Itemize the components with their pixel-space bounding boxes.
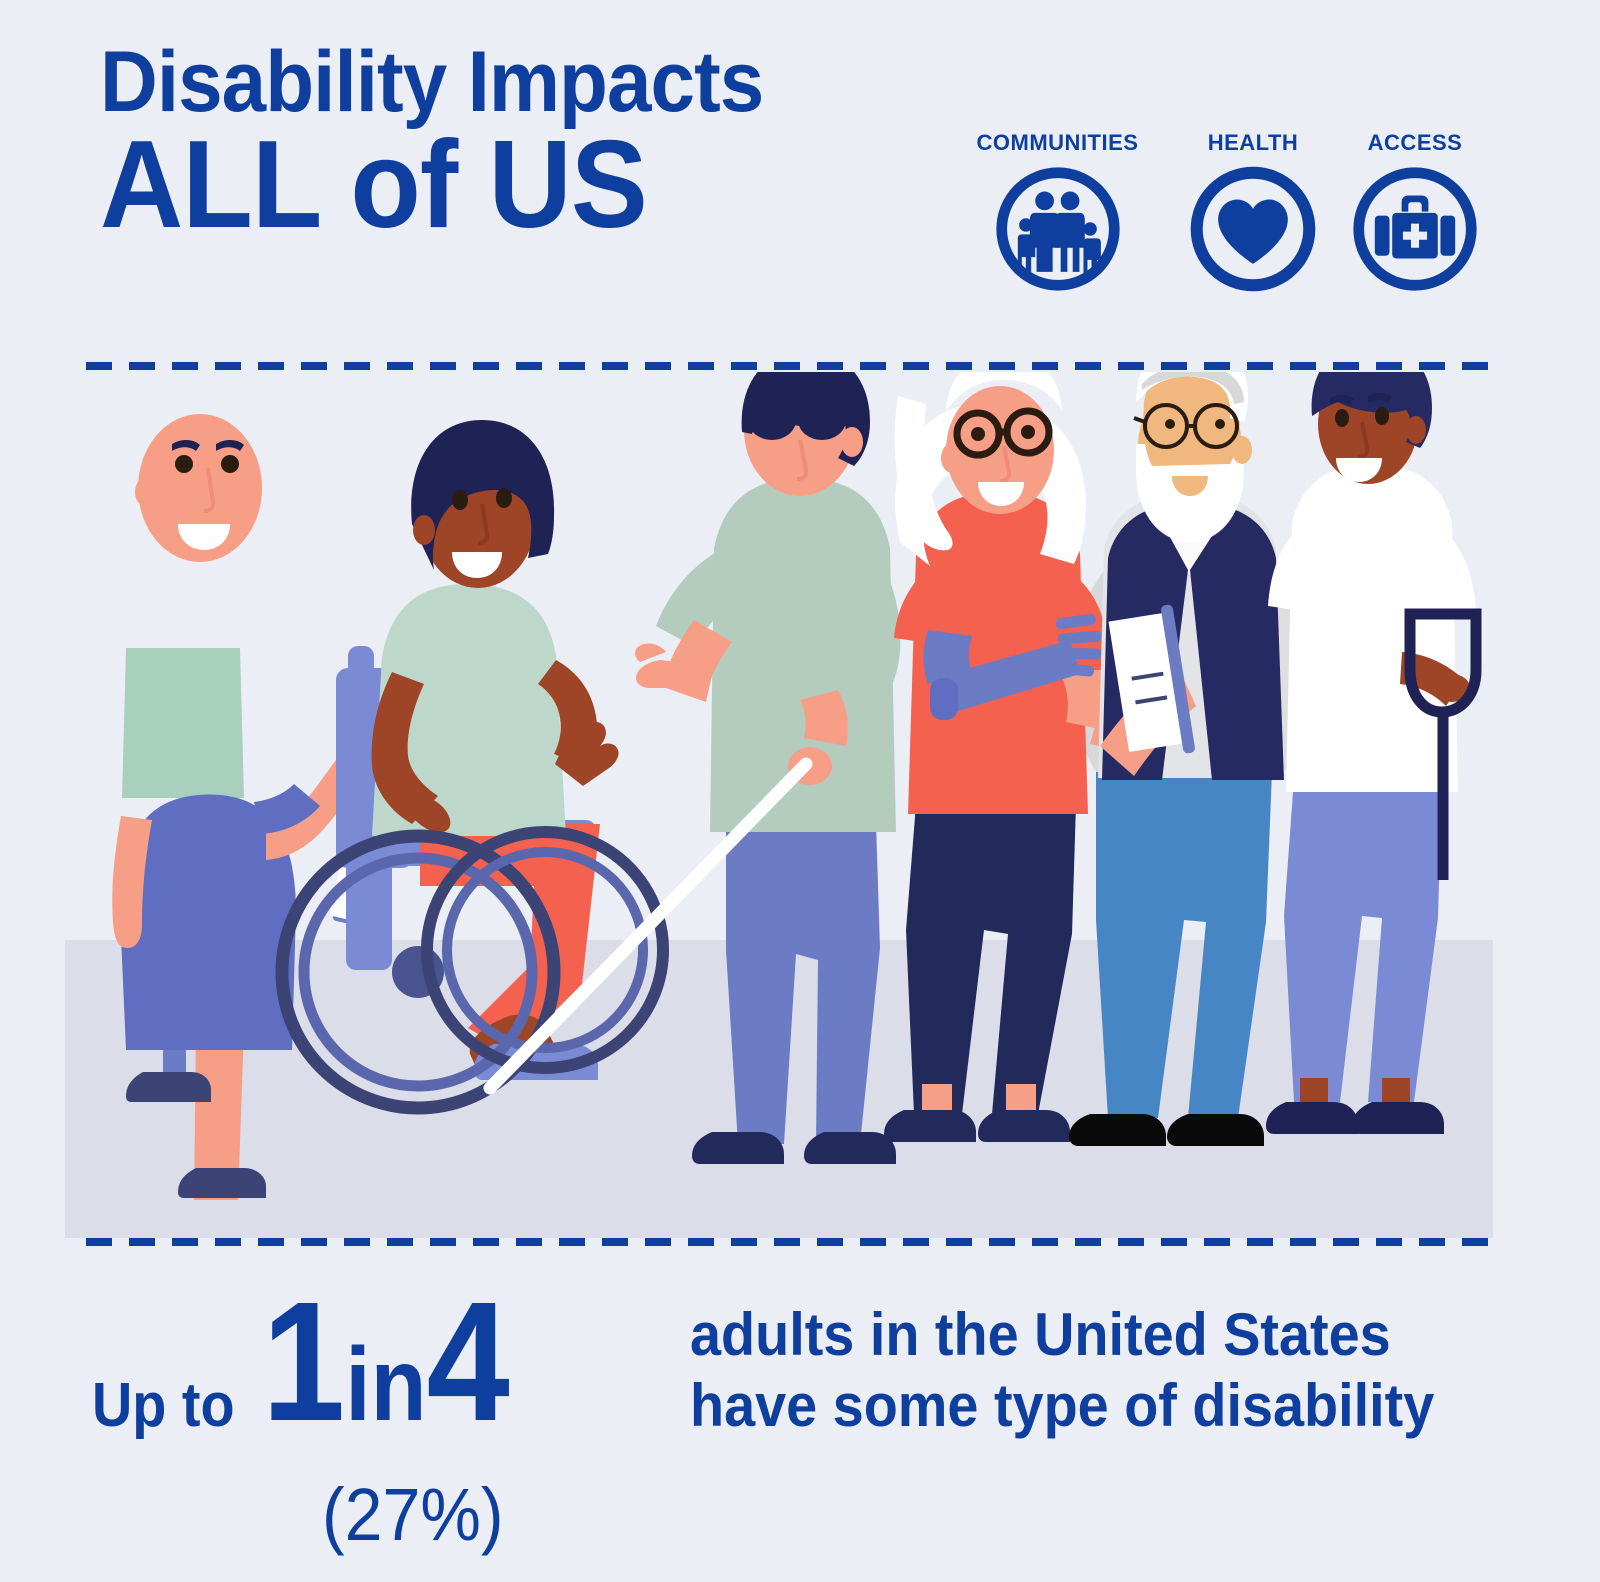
- divider-bottom: [86, 1238, 1496, 1246]
- medical-bag-icon: [1348, 162, 1482, 296]
- stat-description: adults in the United States have some ty…: [690, 1300, 1453, 1442]
- family-group-icon: [991, 162, 1125, 296]
- page-title: Disability Impacts ALL of US: [100, 42, 960, 243]
- illustration-scene: [0, 372, 1600, 1232]
- stat-description-line-2: have some type of disability: [690, 1371, 1453, 1442]
- pillar-icon-group: COMMUNITIES: [950, 130, 1490, 310]
- divider-top: [86, 362, 1496, 370]
- stat-percent: (27%): [322, 1472, 504, 1557]
- pillar-access: ACCESS: [1340, 130, 1490, 296]
- people-illustration: [0, 372, 1600, 1232]
- stat-description-line-1: adults in the United States: [690, 1300, 1453, 1371]
- title-line-secondary: ALL of US: [100, 127, 900, 244]
- title-line-primary: Disability Impacts: [100, 42, 900, 123]
- heart-icon: [1186, 162, 1320, 296]
- infographic-root: Disability Impacts ALL of US COMMUNITIES: [0, 0, 1600, 1582]
- pillar-health: HEALTH: [1178, 130, 1328, 296]
- pillar-health-label: HEALTH: [1178, 130, 1328, 156]
- stat-prefix: Up to: [92, 1370, 235, 1441]
- figure-woman-in-wheelchair: [282, 420, 663, 1108]
- pillar-communities: COMMUNITIES: [950, 130, 1165, 296]
- stat-headline: 1in4: [262, 1282, 510, 1444]
- stat-connector: in: [345, 1327, 426, 1443]
- pillar-access-label: ACCESS: [1340, 130, 1490, 156]
- header: Disability Impacts ALL of US COMMUNITIES: [0, 0, 1600, 330]
- stat-denominator: 4: [427, 1267, 510, 1457]
- figure-man-with-forearm-crutch: [1266, 372, 1476, 1134]
- pillar-communities-label: COMMUNITIES: [950, 130, 1165, 156]
- stat-numerator: 1: [262, 1267, 345, 1457]
- figure-elderly-man-with-clipboard: [1069, 372, 1284, 1146]
